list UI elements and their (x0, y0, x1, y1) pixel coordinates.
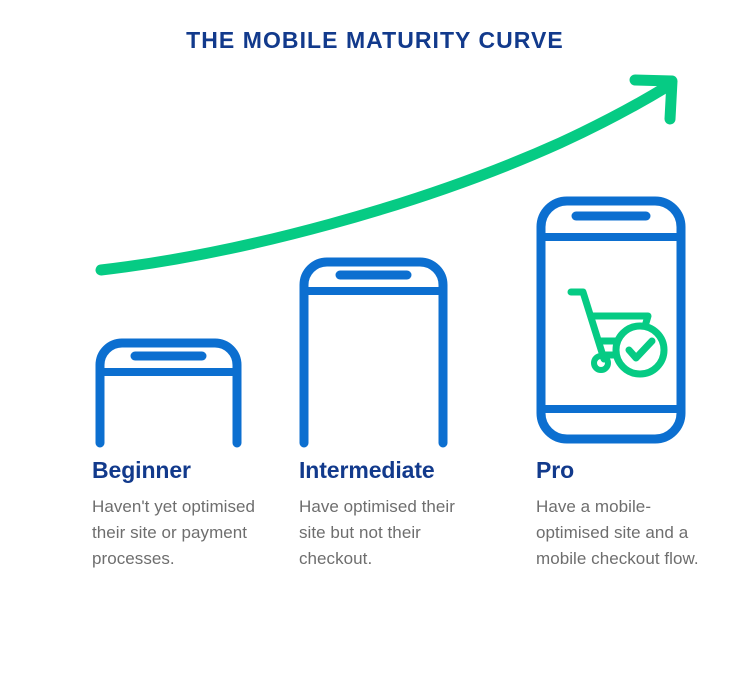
cart-basket (592, 316, 648, 340)
stage-title-intermediate: Intermediate (299, 458, 484, 482)
shopping-cart-check-icon (571, 292, 664, 374)
stage-captions: Beginner Haven't yet optimised their sit… (0, 458, 750, 633)
checkmark-icon (629, 341, 652, 358)
stage-caption-intermediate: Intermediate Have optimised their site b… (299, 458, 484, 572)
phone-body-outline (541, 201, 681, 439)
stage-title-beginner: Beginner (92, 458, 267, 482)
stage-description-beginner: Haven't yet optimised their site or paym… (92, 494, 267, 571)
mobile-maturity-infographic: THE MOBILE MATURITY CURVE (0, 0, 750, 675)
growth-curve-line (101, 86, 668, 270)
page-title: THE MOBILE MATURITY CURVE (0, 28, 750, 53)
stage-caption-beginner: Beginner Haven't yet optimised their sit… (92, 458, 267, 572)
phone-body-outline (304, 262, 443, 443)
stage-caption-pro: Pro Have a mobile-optimised site and a m… (536, 458, 701, 572)
phone-partial-icon-intermediate (304, 262, 443, 443)
stage-description-pro: Have a mobile-optimised site and a mobil… (536, 494, 701, 571)
cart-wheel (594, 356, 608, 370)
stage-description-intermediate: Have optimised their site but not their … (299, 494, 484, 571)
cart-handle (571, 292, 604, 359)
phone-partial-icon-beginner (100, 343, 237, 443)
phone-body-outline (100, 343, 237, 443)
phone-full-icon-pro (541, 201, 681, 439)
growth-curve-arrow (101, 80, 672, 270)
check-badge-circle (616, 326, 664, 374)
stage-title-pro: Pro (536, 458, 701, 482)
growth-curve-arrowhead (635, 80, 672, 119)
